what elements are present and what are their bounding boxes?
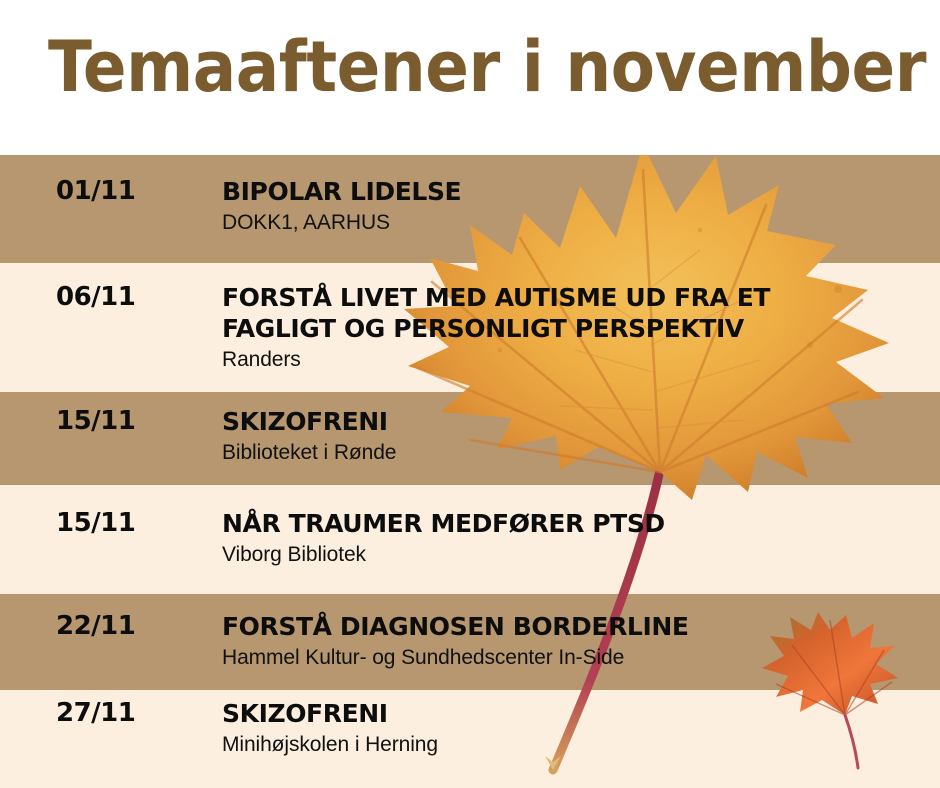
event-venue: Minihøjskolen i Herning: [222, 731, 930, 758]
event-date: 22/11: [56, 611, 196, 641]
event-date: 01/11: [56, 176, 196, 206]
event-body: NÅR TRAUMER MEDFØRER PTSD Viborg Bibliot…: [222, 508, 930, 568]
event-venue: Viborg Bibliotek: [222, 541, 930, 568]
event-body: FORSTÅ DIAGNOSEN BORDERLINE Hammel Kultu…: [222, 611, 930, 671]
event-venue: Biblioteket i Rønde: [222, 439, 930, 466]
event-date: 15/11: [56, 508, 196, 538]
event-body: SKIZOFRENI Biblioteket i Rønde: [222, 406, 930, 466]
event-title: FORSTÅ LIVET MED AUTISME UD FRA ET FAGLI…: [222, 282, 930, 344]
event-title: SKIZOFRENI: [222, 406, 930, 437]
event-title: NÅR TRAUMER MEDFØRER PTSD: [222, 508, 930, 539]
poster-canvas: Temaaftener i november 01/11 BIPOLAR LID…: [0, 0, 940, 788]
event-venue: DOKK1, AARHUS: [222, 209, 930, 236]
event-body: FORSTÅ LIVET MED AUTISME UD FRA ET FAGLI…: [222, 282, 930, 373]
event-title: BIPOLAR LIDELSE: [222, 176, 930, 207]
event-title: SKIZOFRENI: [222, 698, 930, 729]
event-date: 15/11: [56, 406, 196, 436]
event-body: BIPOLAR LIDELSE DOKK1, AARHUS: [222, 176, 930, 236]
title-area: Temaaftener i november: [0, 0, 940, 155]
event-venue: Hammel Kultur- og Sundhedscenter In-Side: [222, 644, 930, 671]
event-title: FORSTÅ DIAGNOSEN BORDERLINE: [222, 611, 930, 642]
event-date: 06/11: [56, 282, 196, 312]
event-venue: Randers: [222, 346, 930, 373]
page-title: Temaaftener i november: [48, 26, 926, 108]
event-date: 27/11: [56, 698, 196, 728]
event-body: SKIZOFRENI Minihøjskolen i Herning: [222, 698, 930, 758]
